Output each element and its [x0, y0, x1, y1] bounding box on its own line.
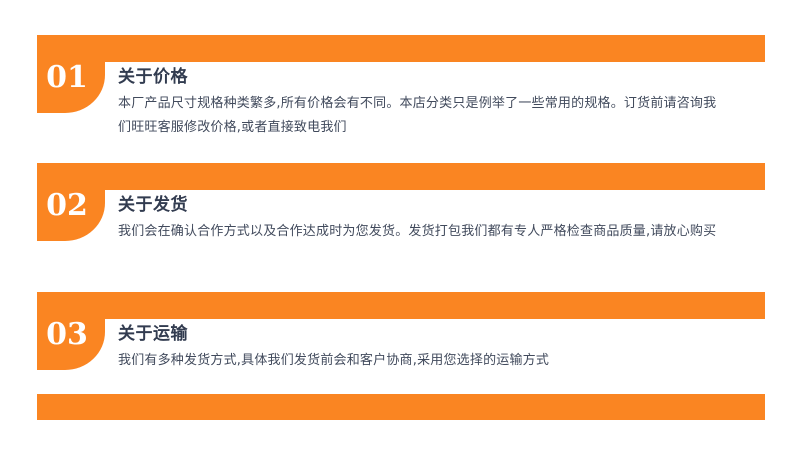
section-03-number: 03 — [37, 320, 97, 350]
section-02-content: 关于发货 我们会在确认合作方式以及合作达成时为您发货。发货打包我们都有专人严格检… — [118, 193, 778, 244]
footer-ribbon — [37, 394, 765, 420]
section-02-badge: 02 — [37, 163, 105, 241]
section-03-title: 关于运输 — [118, 322, 778, 346]
section-02-body: 我们会在确认合作方式以及合作达成时为您发货。发货打包我们都有专人严格检查商品质量… — [118, 220, 718, 244]
section-01-content: 关于价格 本厂产品尺寸规格种类繁多,所有价格会有不同。本店分类只是例举了一些常用… — [118, 65, 778, 140]
section-01-title: 关于价格 — [118, 65, 778, 89]
section-02-ribbon — [37, 163, 765, 190]
section-03-body: 我们有多种发货方式,具体我们发货前会和客户协商,采用您选择的运输方式 — [118, 349, 718, 373]
section-03-ribbon — [37, 292, 765, 319]
section-03-badge: 03 — [37, 292, 105, 370]
info-panel: 01 关于价格 本厂产品尺寸规格种类繁多,所有价格会有不同。本店分类只是例举了一… — [0, 0, 790, 456]
section-01-body: 本厂产品尺寸规格种类繁多,所有价格会有不同。本店分类只是例举了一些常用的规格。订… — [118, 92, 718, 140]
section-01-ribbon — [37, 35, 765, 62]
section-02-title: 关于发货 — [118, 193, 778, 217]
section-02-number: 02 — [37, 191, 97, 221]
section-01-number: 01 — [37, 63, 97, 93]
section-01-badge: 01 — [37, 35, 105, 113]
section-03-content: 关于运输 我们有多种发货方式,具体我们发货前会和客户协商,采用您选择的运输方式 — [118, 322, 778, 373]
